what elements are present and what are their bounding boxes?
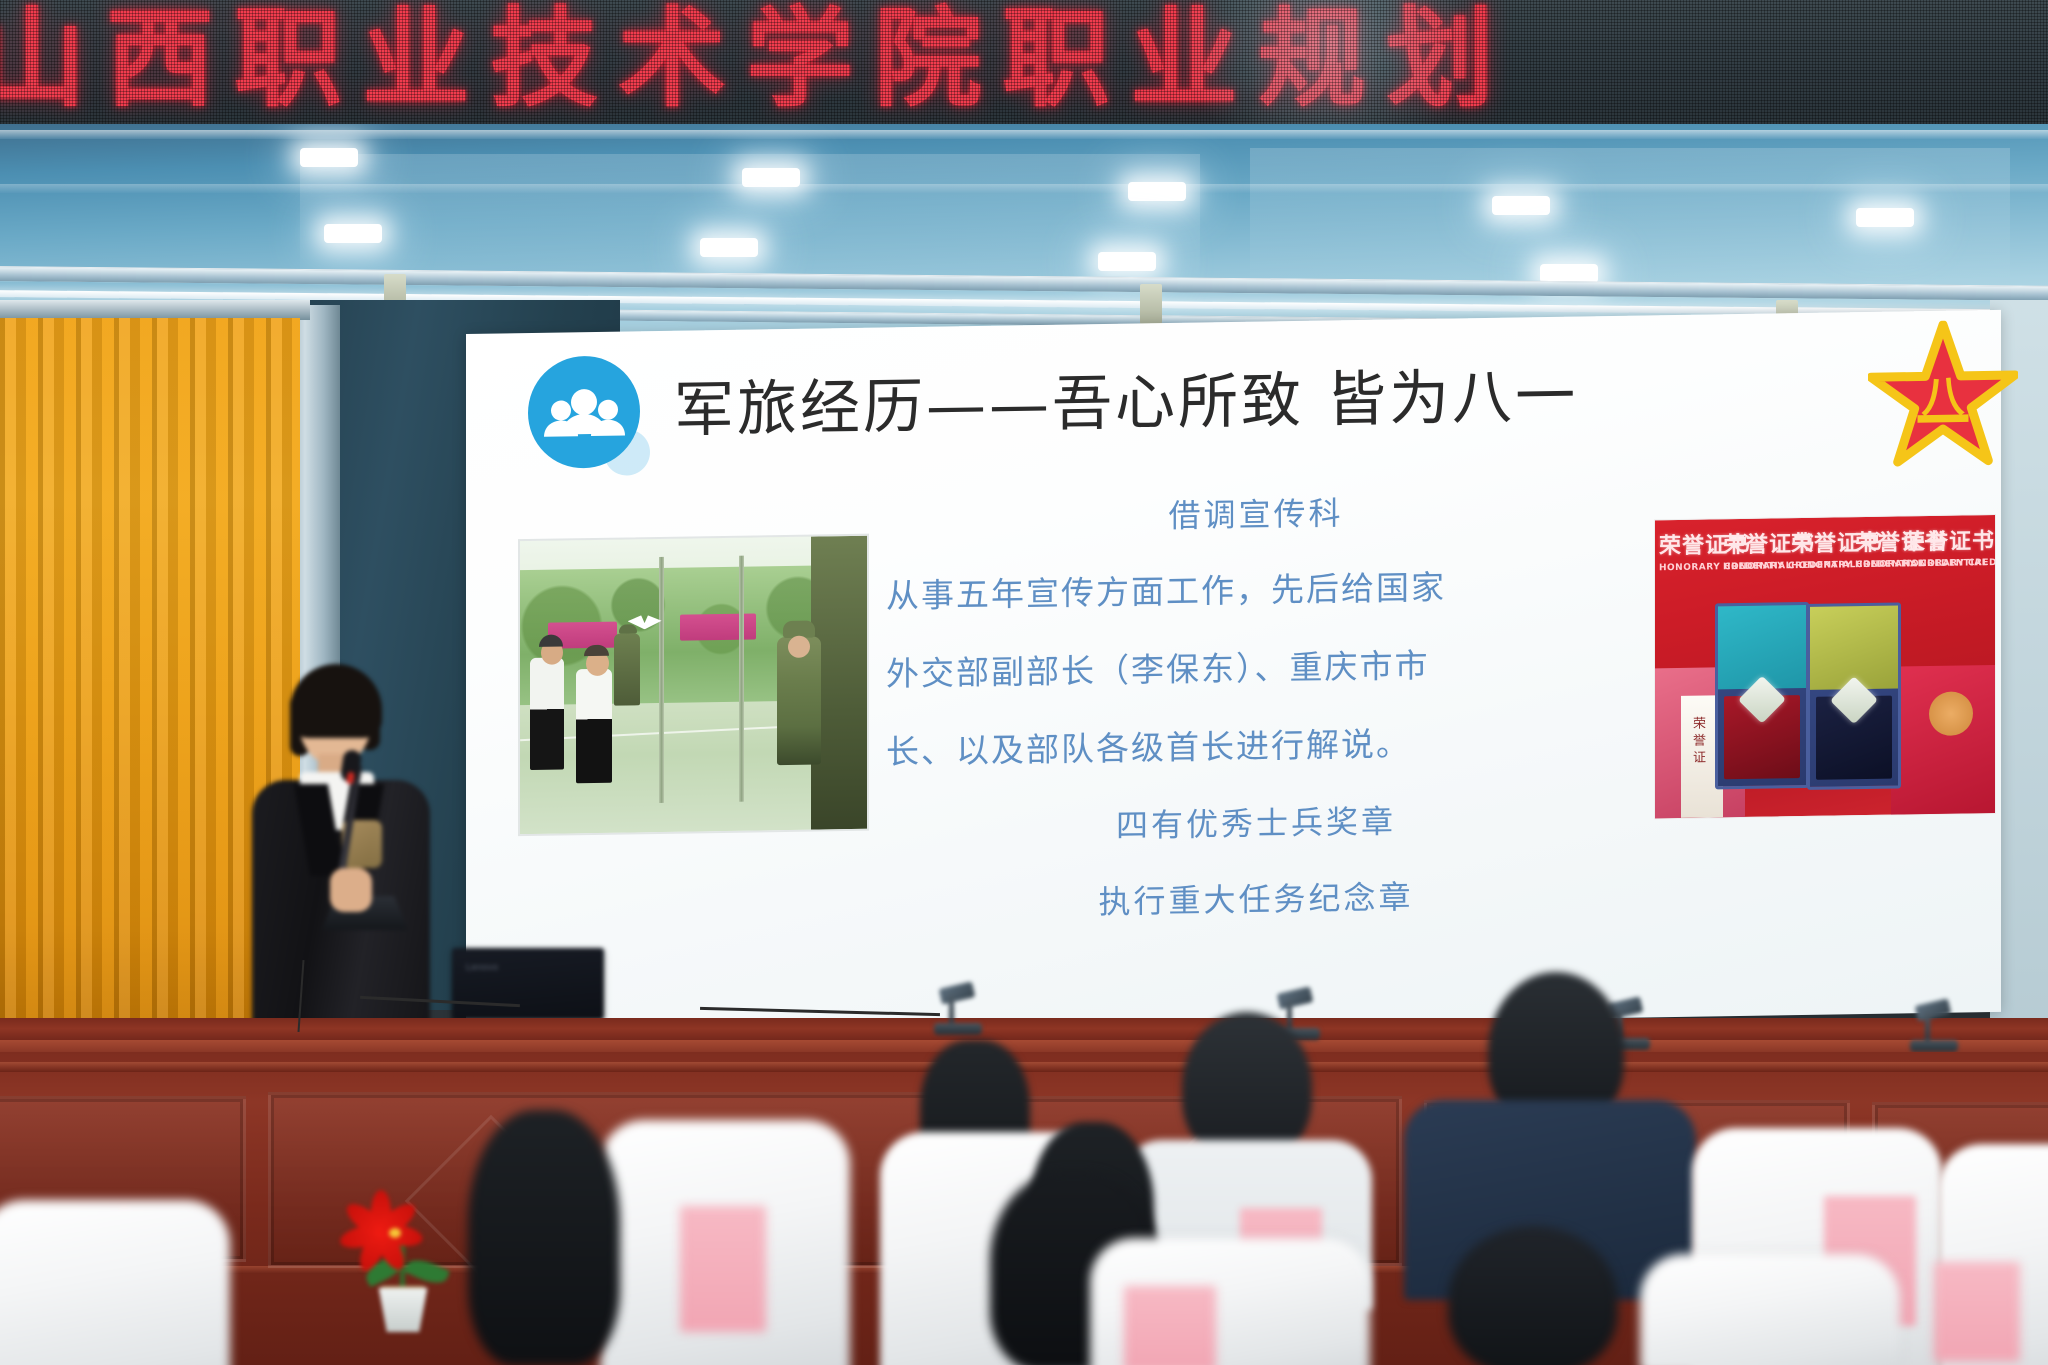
certificate-title-cn: 荣誉证书 [1791,525,1853,558]
auditorium-scene: 山西职业技术学院职业规划 [0,0,2048,1365]
audience-member [1448,1226,1618,1365]
projection-screen: 军旅经历——吾心所致 皆为八一 八 [466,310,2001,1036]
certificate-title-cn: 荣誉证书 [1723,526,1785,559]
speaker-on-stage [246,672,446,1062]
people-group-icon [528,355,640,469]
audience-chair [0,1200,230,1365]
ceiling-light [324,224,382,243]
led-banner-text: 山西职业技术学院职业规划 [0,0,2048,124]
presentation-laptop[interactable]: Lenovo [452,948,604,1020]
slide-title: 军旅经历——吾心所致 皆为八一 [674,340,1854,463]
audience-chair [1640,1254,1900,1365]
ceiling-light [700,238,758,257]
certificate-title-cn: 荣誉证书 [1659,527,1719,560]
chair-back-accent [1124,1286,1216,1365]
chair-back-accent [1934,1262,2020,1362]
ceiling-light [1492,196,1550,215]
curtain-rod [0,300,310,320]
body-line: 四有优秀士兵奖章 [886,780,1626,868]
ceiling-light [1128,182,1186,201]
body-line: 执行重大任务纪念章 [886,856,1626,944]
certificate-title-en: HONORARY CREDENTIAL [1659,562,1719,573]
certificate-title-cn: 荣誉证书 [1903,523,1995,556]
military-briefing-photo [518,534,869,837]
led-banner: 山西职业技术学院职业规划 [0,0,2048,128]
ceiling-light [300,148,358,167]
ceiling-light [1098,252,1156,271]
body-line: 从事五年宣传方面工作，先后给国家 [886,546,1626,636]
audience-member [468,1110,620,1365]
certificate-title-en: HONORARY CREDENTIAL [1723,561,1785,572]
body-line: 长、以及部队各级首长进行解说。 [886,702,1626,792]
body-line: 外交部副部长（李保东）、重庆市市 [886,624,1626,714]
honorary-credentials-and-medals-photo: 荣誉证书 HONORARY CREDENTIAL 荣誉证书 HONORARY C… [1654,514,1996,819]
ceiling-light [1856,208,1914,227]
certificate-title-en: HONORARY CREDENTIAL [1791,560,1853,571]
ceiling-light [742,168,800,187]
certificate-title-en: HONORARY CREDENTIAL [1903,558,1995,569]
body-line: 借调宣传科 [886,472,1626,558]
pla-bayi-red-star-emblem: 八 [1868,320,2018,468]
chair-back-accent [680,1206,766,1332]
laptop-brand-label: Lenovo [466,962,499,972]
slide-body-text: 借调宣传科 从事五年宣传方面工作，先后给国家 外交部副部长（李保东）、重庆市市 … [886,472,1626,944]
